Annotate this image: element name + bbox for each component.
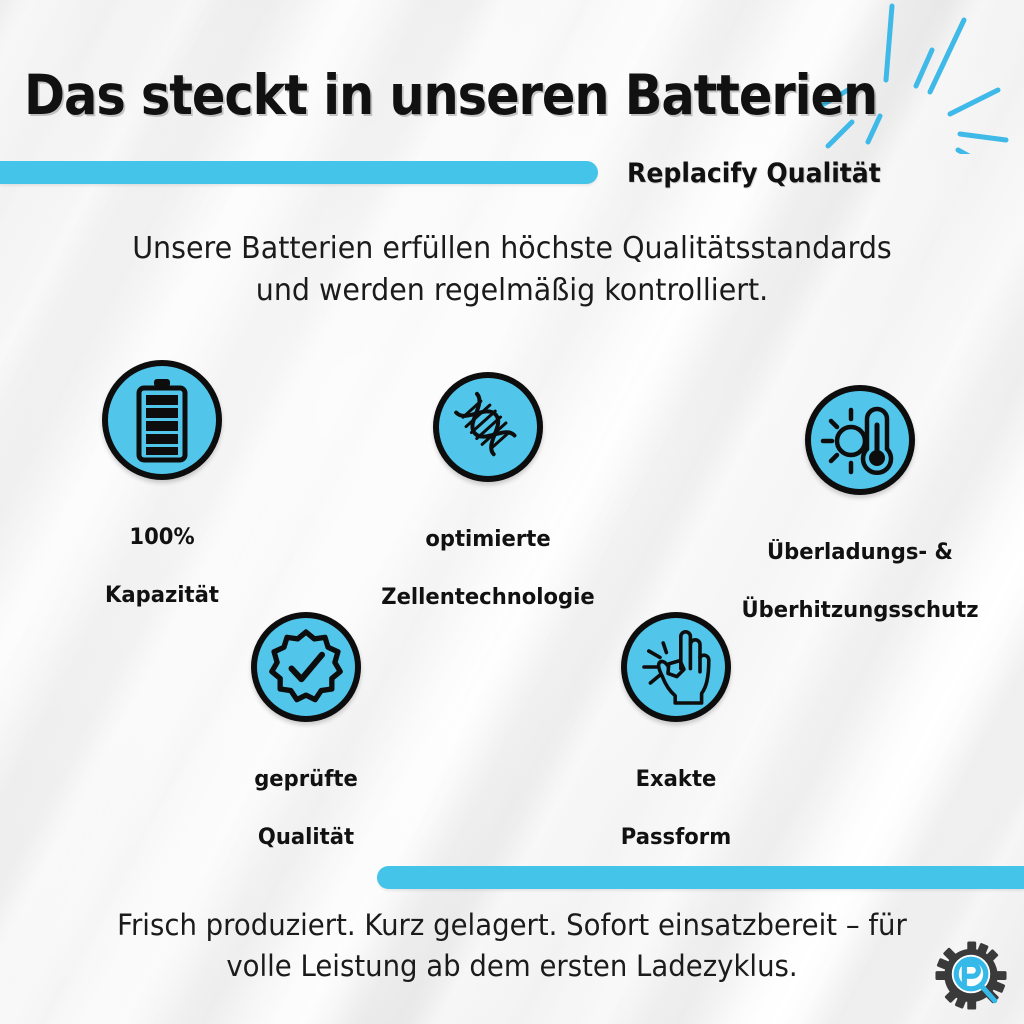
feature-label-line-2: Passform (561, 823, 791, 852)
verified-badge-check-icon (268, 629, 344, 705)
feature-icon-circle (251, 612, 361, 722)
outro-paragraph: Frisch produziert. Kurz gelagert. Sofort… (85, 905, 940, 987)
feature-label-line-1: 100% (47, 523, 277, 552)
feature-item-exact-fit: Exakte Passform (556, 612, 796, 881)
page-title: Das steckt in unseren Batterien (24, 64, 877, 126)
feature-icon-circle (433, 372, 543, 482)
feature-label: Exakte Passform (561, 736, 791, 881)
feature-label-line-1: geprüfte (191, 765, 421, 794)
page-subtitle: Replacify Qualität (627, 158, 881, 190)
sun-thermometer-icon (820, 403, 900, 477)
feature-item-capacity: 100% Kapazität (42, 360, 282, 639)
feature-icon-circle (102, 360, 222, 480)
replacify-gear-r-logo (932, 940, 1010, 1014)
outro-line-1: Frisch produziert. Kurz gelagert. Sofort… (85, 905, 940, 946)
feature-label-line-1: Exakte (561, 765, 791, 794)
feature-label-line-1: Überladungs- & (740, 538, 980, 567)
feature-item-cell-technology: optimierte Zellentechnologie (368, 372, 608, 641)
feature-icon-circle (621, 612, 731, 722)
intro-line-1: Unsere Batterien erfüllen höchste Qualit… (85, 228, 940, 270)
feature-label-line-1: optimierte (373, 525, 603, 554)
accent-bar-top (0, 161, 598, 184)
feature-label: geprüfte Qualität (191, 736, 421, 881)
infographic-poster: Das steckt in unseren Batterien Replacif… (0, 0, 1024, 1024)
accent-bar-bottom (377, 866, 1024, 889)
dna-helix-icon (450, 389, 526, 465)
ok-hand-gesture-icon (636, 627, 716, 707)
feature-label-line-2: Kapazität (47, 581, 277, 610)
intro-paragraph: Unsere Batterien erfüllen höchste Qualit… (85, 228, 940, 312)
battery-full-icon (130, 377, 194, 463)
feature-item-tested-quality: geprüfte Qualität (186, 612, 426, 881)
feature-label-line-2: Zellentechnologie (373, 583, 603, 612)
feature-label-line-2: Qualität (191, 823, 421, 852)
feature-icon-circle (805, 385, 915, 495)
outro-line-2: volle Leistung ab dem ersten Ladezyklus. (85, 946, 940, 987)
intro-line-2: und werden regelmäßig kontrolliert. (85, 270, 940, 312)
